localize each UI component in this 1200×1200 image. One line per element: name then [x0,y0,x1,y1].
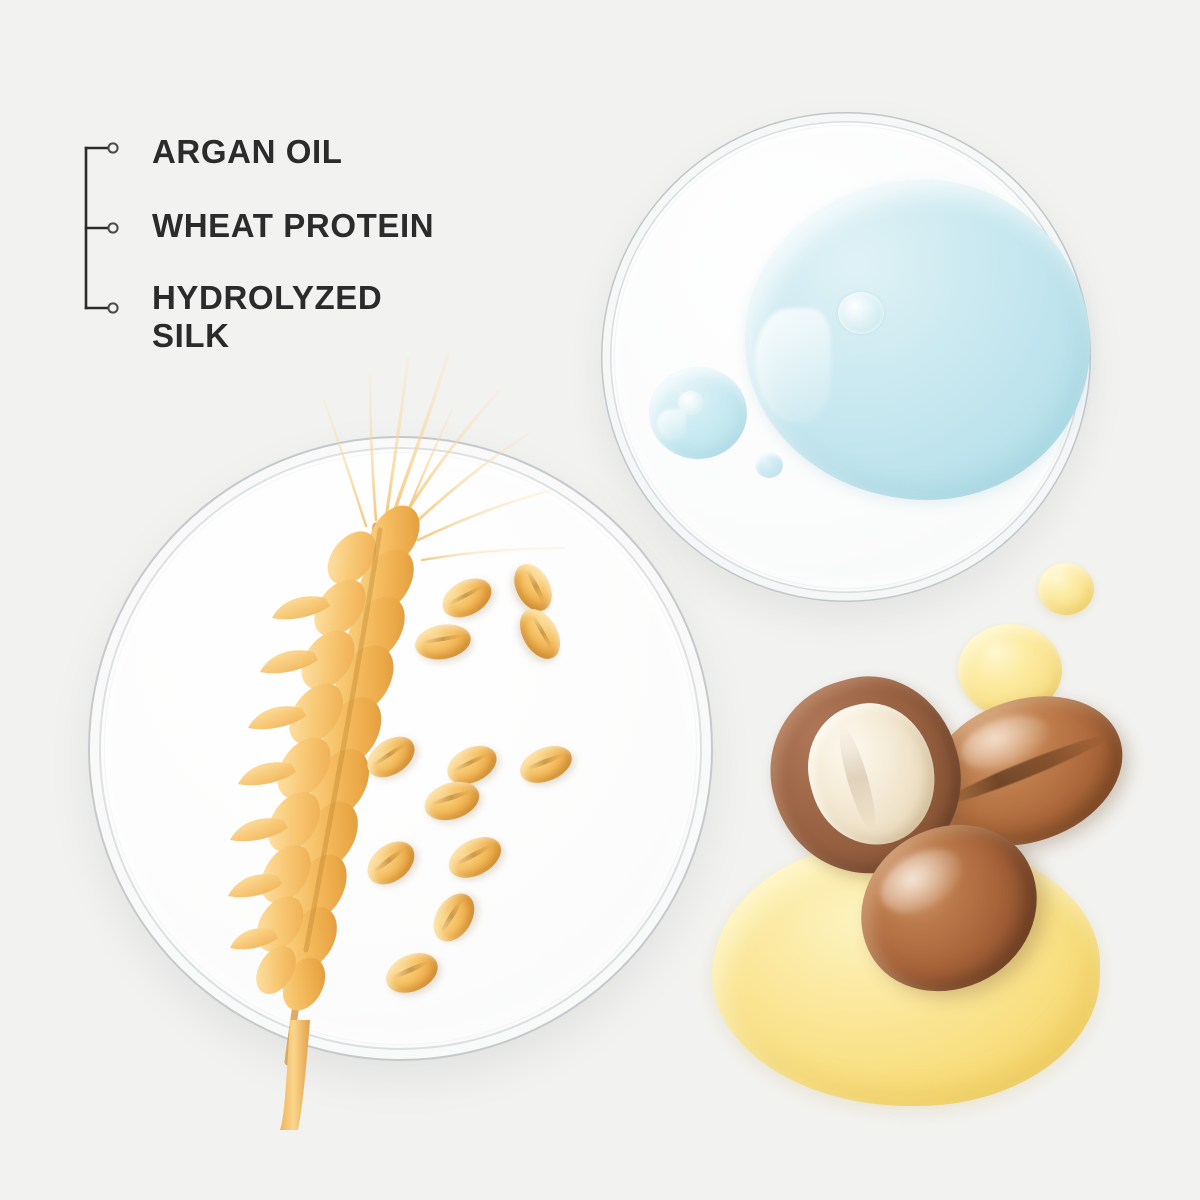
ingredient-callout-list: ARGAN OIL WHEAT PROTEIN HYDROLYZED SILK [0,0,620,400]
circle-node [108,143,117,152]
blue-gel-bubble [838,292,884,334]
circle-node [108,223,117,232]
ingredient-infographic: ARGAN OIL WHEAT PROTEIN HYDROLYZED SILK [0,0,1200,1200]
oil-droplet-small [1038,563,1094,615]
blue-gel-droplet-medium [649,367,747,459]
ingredient-label-wheat-protein: WHEAT PROTEIN [152,207,434,245]
circle-node [108,303,117,312]
ingredient-label-hydrolyzed-silk: HYDROLYZED SILK [152,279,382,354]
blue-gel-droplet-small [755,452,783,478]
ingredient-label-argan-oil: ARGAN OIL [152,133,343,171]
blue-gel-blob-large [745,180,1090,500]
